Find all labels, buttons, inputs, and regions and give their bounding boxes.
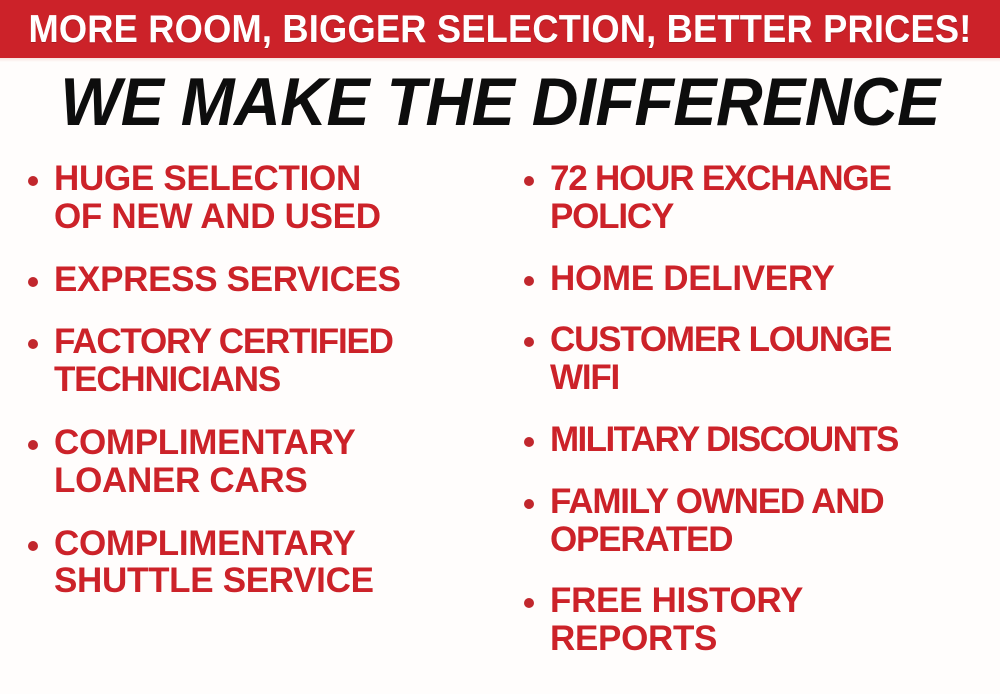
list-item: FREE HISTORY REPORTS <box>518 582 998 658</box>
benefits-column-left: HUGE SELECTION OF NEW AND USED EXPRESS S… <box>0 160 500 625</box>
list-item: MILITARY DISCOUNTS <box>518 421 998 459</box>
page-title: WE MAKE THE DIFFERENCE <box>25 68 975 136</box>
bullet-dot-icon <box>524 176 534 186</box>
list-item: HOME DELIVERY <box>518 260 998 298</box>
bullet-dot-icon <box>28 176 38 186</box>
banner-underline-divider <box>0 58 1000 62</box>
bullet-dot-icon <box>524 598 534 608</box>
bullet-dot-icon <box>28 541 38 551</box>
benefits-columns: HUGE SELECTION OF NEW AND USED EXPRESS S… <box>0 160 1000 680</box>
list-item: CUSTOMER LOUNGE WIFI <box>518 321 998 397</box>
bullet-dot-icon <box>524 276 534 286</box>
bullet-dot-icon <box>524 499 534 509</box>
list-item-label: CUSTOMER LOUNGE WIFI <box>550 321 998 397</box>
top-banner: MORE ROOM, BIGGER SELECTION, BETTER PRIC… <box>0 0 1000 58</box>
bullet-dot-icon <box>524 337 534 347</box>
list-item-label: FAMILY OWNED AND OPERATED <box>550 483 998 559</box>
list-item-label: MILITARY DISCOUNTS <box>550 421 998 459</box>
list-item-label: EXPRESS SERVICES <box>54 261 494 299</box>
list-item-label: HOME DELIVERY <box>550 260 998 298</box>
advertisement-poster: MORE ROOM, BIGGER SELECTION, BETTER PRIC… <box>0 0 1000 694</box>
list-item: 72 HOUR EXCHANGE POLICY <box>518 160 998 236</box>
bullet-dot-icon <box>28 339 38 349</box>
list-item: COMPLIMENTARY SHUTTLE SERVICE <box>22 525 494 601</box>
list-item-label: 72 HOUR EXCHANGE POLICY <box>550 160 998 236</box>
list-item-label: COMPLIMENTARY LOANER CARS <box>54 424 494 500</box>
benefits-column-right: 72 HOUR EXCHANGE POLICY HOME DELIVERY CU… <box>500 160 1000 682</box>
list-item: FAMILY OWNED AND OPERATED <box>518 483 998 559</box>
bullet-dot-icon <box>28 277 38 287</box>
list-item: COMPLIMENTARY LOANER CARS <box>22 424 494 500</box>
list-item-label: FACTORY CERTIFIED TECHNICIANS <box>54 323 494 399</box>
list-item-label: FREE HISTORY REPORTS <box>550 582 998 658</box>
list-item: EXPRESS SERVICES <box>22 261 494 299</box>
list-item: FACTORY CERTIFIED TECHNICIANS <box>22 323 494 399</box>
bullet-dot-icon <box>524 437 534 447</box>
list-item: HUGE SELECTION OF NEW AND USED <box>22 160 494 236</box>
list-item-label: HUGE SELECTION OF NEW AND USED <box>54 160 494 236</box>
list-item-label: COMPLIMENTARY SHUTTLE SERVICE <box>54 525 494 601</box>
bullet-dot-icon <box>28 440 38 450</box>
top-banner-text: MORE ROOM, BIGGER SELECTION, BETTER PRIC… <box>28 10 971 49</box>
